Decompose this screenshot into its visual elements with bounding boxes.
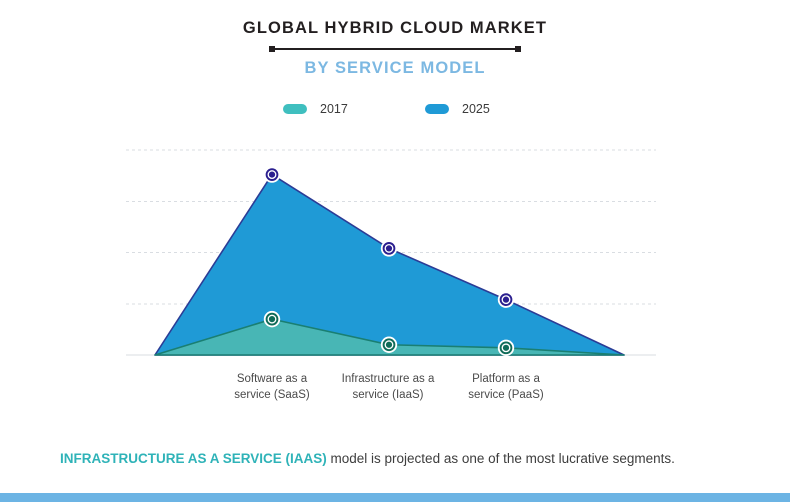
marker-2017-1[interactable] — [386, 342, 392, 348]
marker-2017-2[interactable] — [503, 345, 509, 351]
x-axis-label-paas-line1: Platform as a — [431, 372, 581, 388]
x-axis-label-paas: Platform as a service (PaaS) — [431, 372, 581, 403]
caption: INFRASTRUCTURE AS A SERVICE (IAAS) model… — [60, 449, 760, 469]
chart-svg — [0, 0, 790, 502]
marker-2017-0[interactable] — [269, 316, 275, 322]
marker-2025-2[interactable] — [503, 297, 509, 303]
footer-bar — [0, 493, 790, 502]
area-chart — [0, 0, 790, 502]
caption-rest: model is projected as one of the most lu… — [327, 451, 675, 466]
x-axis-labels: Software as a service (SaaS) Infrastruct… — [0, 372, 790, 408]
marker-2025-0[interactable] — [269, 172, 275, 178]
marker-2025-1[interactable] — [386, 245, 392, 251]
x-axis-label-paas-line2: service (PaaS) — [431, 388, 581, 404]
caption-highlight: INFRASTRUCTURE AS A SERVICE (IAAS) — [60, 451, 327, 466]
